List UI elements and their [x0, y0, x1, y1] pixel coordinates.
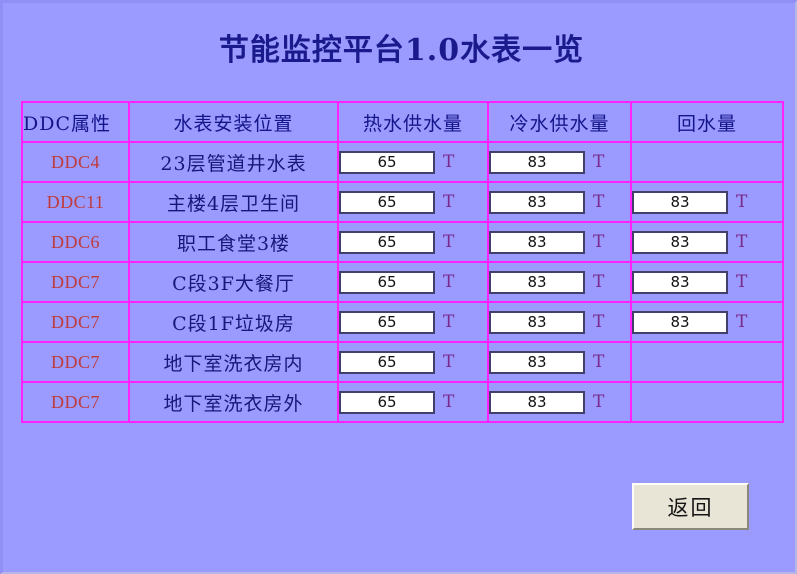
cold-water-unit-label: T [593, 392, 604, 412]
cold-water-unit-label: T [593, 272, 604, 292]
cell-return-water [631, 342, 783, 382]
cell-location: 地下室洗衣房内 [129, 342, 338, 382]
return-water-unit-label: T [736, 312, 747, 332]
table-row: DDC7C段1F垃圾房TTT [22, 302, 783, 342]
cell-location: 地下室洗衣房外 [129, 382, 338, 422]
application-window: 节能监控平台1.0水表一览 DDC属性 水表安装位置 热水供水量 冷水供水量 回… [0, 0, 797, 574]
cell-location: 职工食堂3楼 [129, 222, 338, 262]
cell-return-water [631, 382, 783, 422]
cell-cold-water: T [488, 142, 631, 182]
column-header-ddc: DDC属性 [22, 102, 129, 142]
cold-water-input[interactable] [489, 191, 585, 214]
table-row: DDC423层管道井水表TT [22, 142, 783, 182]
cell-return-water: T [631, 222, 783, 262]
cell-cold-water: T [488, 302, 631, 342]
column-header-return-water: 回水量 [631, 102, 783, 142]
cold-water-input[interactable] [489, 151, 585, 174]
hot-water-input[interactable] [339, 271, 435, 294]
table-row: DDC6职工食堂3楼TTT [22, 222, 783, 262]
page-title: 节能监控平台1.0水表一览 [3, 31, 797, 71]
cell-return-water [631, 142, 783, 182]
cell-hot-water: T [338, 302, 488, 342]
cell-ddc: DDC7 [22, 302, 129, 342]
cell-location: C段3F大餐厅 [129, 262, 338, 302]
hot-water-input[interactable] [339, 151, 435, 174]
hot-water-unit-label: T [443, 152, 454, 172]
cell-location: C段1F垃圾房 [129, 302, 338, 342]
hot-water-unit-label: T [443, 312, 454, 332]
cell-cold-water: T [488, 182, 631, 222]
hot-water-input[interactable] [339, 391, 435, 414]
cell-hot-water: T [338, 222, 488, 262]
cold-water-input[interactable] [489, 351, 585, 374]
table-row: DDC11主楼4层卫生间TTT [22, 182, 783, 222]
return-water-input[interactable] [632, 311, 728, 334]
cell-location: 主楼4层卫生间 [129, 182, 338, 222]
hot-water-unit-label: T [443, 232, 454, 252]
column-header-cold-water: 冷水供水量 [488, 102, 631, 142]
water-meter-table: DDC属性 水表安装位置 热水供水量 冷水供水量 回水量 DDC423层管道井水… [21, 101, 784, 423]
cold-water-input[interactable] [489, 391, 585, 414]
cell-hot-water: T [338, 182, 488, 222]
hot-water-input[interactable] [339, 191, 435, 214]
table-header-row: DDC属性 水表安装位置 热水供水量 冷水供水量 回水量 [22, 102, 783, 142]
cold-water-unit-label: T [593, 232, 604, 252]
cold-water-input[interactable] [489, 271, 585, 294]
hot-water-input[interactable] [339, 231, 435, 254]
column-header-location: 水表安装位置 [129, 102, 338, 142]
hot-water-input[interactable] [339, 351, 435, 374]
cell-hot-water: T [338, 342, 488, 382]
hot-water-input[interactable] [339, 311, 435, 334]
cell-ddc: DDC4 [22, 142, 129, 182]
back-button[interactable]: 返回 [632, 483, 749, 530]
cell-ddc: DDC7 [22, 262, 129, 302]
return-water-unit-label: T [736, 272, 747, 292]
column-header-hot-water: 热水供水量 [338, 102, 488, 142]
cell-cold-water: T [488, 222, 631, 262]
cell-hot-water: T [338, 262, 488, 302]
return-water-unit-label: T [736, 232, 747, 252]
cell-return-water: T [631, 302, 783, 342]
cell-ddc: DDC7 [22, 382, 129, 422]
hot-water-unit-label: T [443, 192, 454, 212]
cold-water-unit-label: T [593, 192, 604, 212]
cell-ddc: DDC6 [22, 222, 129, 262]
cold-water-input[interactable] [489, 231, 585, 254]
cold-water-input[interactable] [489, 311, 585, 334]
cell-cold-water: T [488, 382, 631, 422]
table-row: DDC7C段3F大餐厅TTT [22, 262, 783, 302]
cell-ddc: DDC11 [22, 182, 129, 222]
return-water-input[interactable] [632, 191, 728, 214]
return-water-input[interactable] [632, 271, 728, 294]
cell-hot-water: T [338, 142, 488, 182]
cold-water-unit-label: T [593, 152, 604, 172]
cell-return-water: T [631, 182, 783, 222]
cold-water-unit-label: T [593, 352, 604, 372]
hot-water-unit-label: T [443, 352, 454, 372]
cell-ddc: DDC7 [22, 342, 129, 382]
return-water-input[interactable] [632, 231, 728, 254]
cell-cold-water: T [488, 342, 631, 382]
return-water-unit-label: T [736, 192, 747, 212]
cell-cold-water: T [488, 262, 631, 302]
cell-location: 23层管道井水表 [129, 142, 338, 182]
hot-water-unit-label: T [443, 272, 454, 292]
table-row: DDC7地下室洗衣房内TT [22, 342, 783, 382]
cold-water-unit-label: T [593, 312, 604, 332]
cell-hot-water: T [338, 382, 488, 422]
hot-water-unit-label: T [443, 392, 454, 412]
table-row: DDC7地下室洗衣房外TT [22, 382, 783, 422]
cell-return-water: T [631, 262, 783, 302]
